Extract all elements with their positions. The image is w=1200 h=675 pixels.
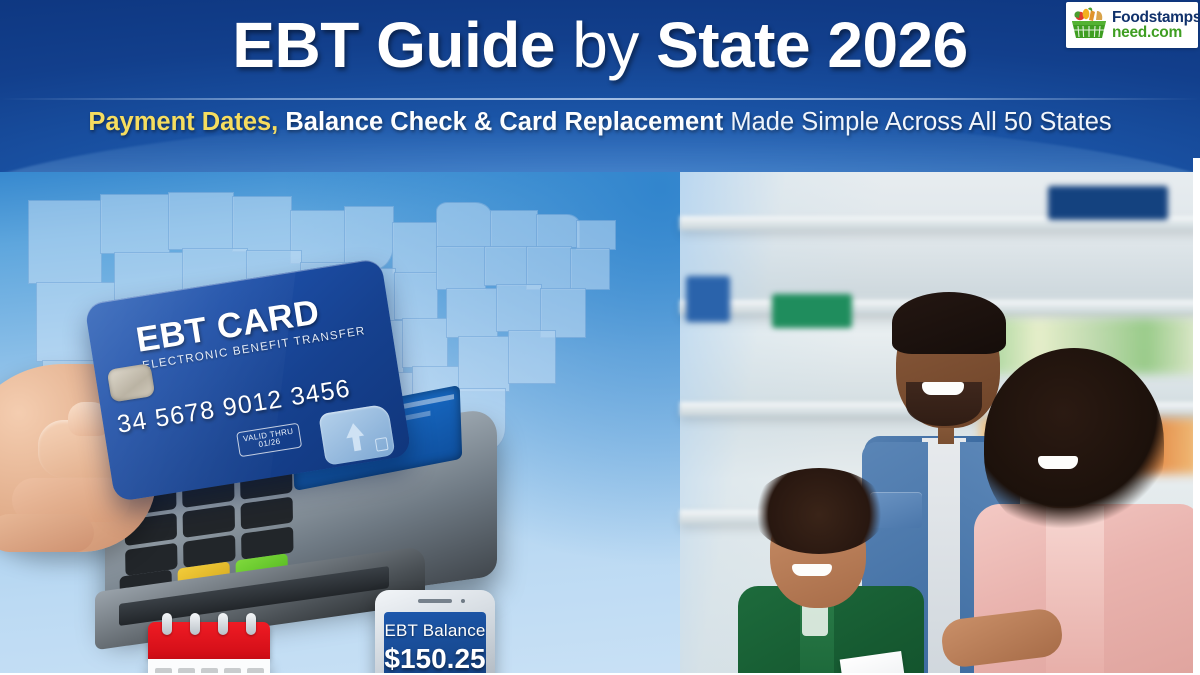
page-subtitle: Payment Dates, Balance Check & Card Repl… [0, 108, 1200, 137]
title-part-1: EBT Guide [232, 9, 572, 81]
title-part-2: by [572, 9, 656, 81]
banner-header: EBT Guide by State 2026 Payment Dates, B… [0, 0, 1200, 172]
subtitle-part-2: Balance Check & Card Replacement [278, 108, 723, 136]
logo-line-1: Foodstamps [1112, 10, 1200, 26]
title-part-3: State 2026 [656, 9, 968, 81]
subtitle-part-3: Made Simple Across All 50 States [723, 108, 1111, 136]
ebt-card-subtitle: ELECTRONIC BENEFIT TRANSFER [142, 325, 367, 372]
phone-body: EBT Balance $150.25 [375, 590, 495, 675]
subtitle-part-1: Payment Dates, [88, 108, 278, 136]
valid-thru-value: 01/26 [244, 436, 296, 452]
ebt-balance-amount: $150.25 [384, 643, 486, 675]
site-logo[interactable]: Foodstamps need.com [1066, 2, 1198, 48]
header-divider [0, 98, 1200, 100]
page-title: EBT Guide by State 2026 [0, 6, 1200, 84]
infographic-banner: EBT CARD ELECTRONIC BENEFIT TRANSFER 34 … [0, 0, 1200, 675]
usda-emblem-icon [318, 403, 395, 465]
ebt-balance-phone: EBT Balance $150.25 [375, 590, 495, 675]
phone-camera-icon [461, 599, 465, 603]
ebt-card-title: EBT CARD [133, 292, 322, 360]
ebt-card-number: 34 5678 9012 3456 [115, 374, 353, 440]
child-figure [726, 464, 926, 675]
chip-icon [107, 363, 156, 402]
right-border [1193, 158, 1200, 675]
phone-screen: EBT Balance $150.25 [384, 612, 486, 675]
logo-line-2: need.com [1112, 25, 1200, 41]
phone-speaker [418, 599, 452, 603]
ebt-balance-label: EBT Balance [384, 621, 486, 641]
mother-figure [950, 338, 1200, 675]
photo-scene: EBT CARD ELECTRONIC BENEFIT TRANSFER 34 … [0, 158, 1200, 675]
grocery-basket-icon [1069, 5, 1109, 45]
calendar-icon [148, 613, 270, 675]
ebt-card-valid-thru: VALID THRU 01/26 [236, 423, 302, 457]
